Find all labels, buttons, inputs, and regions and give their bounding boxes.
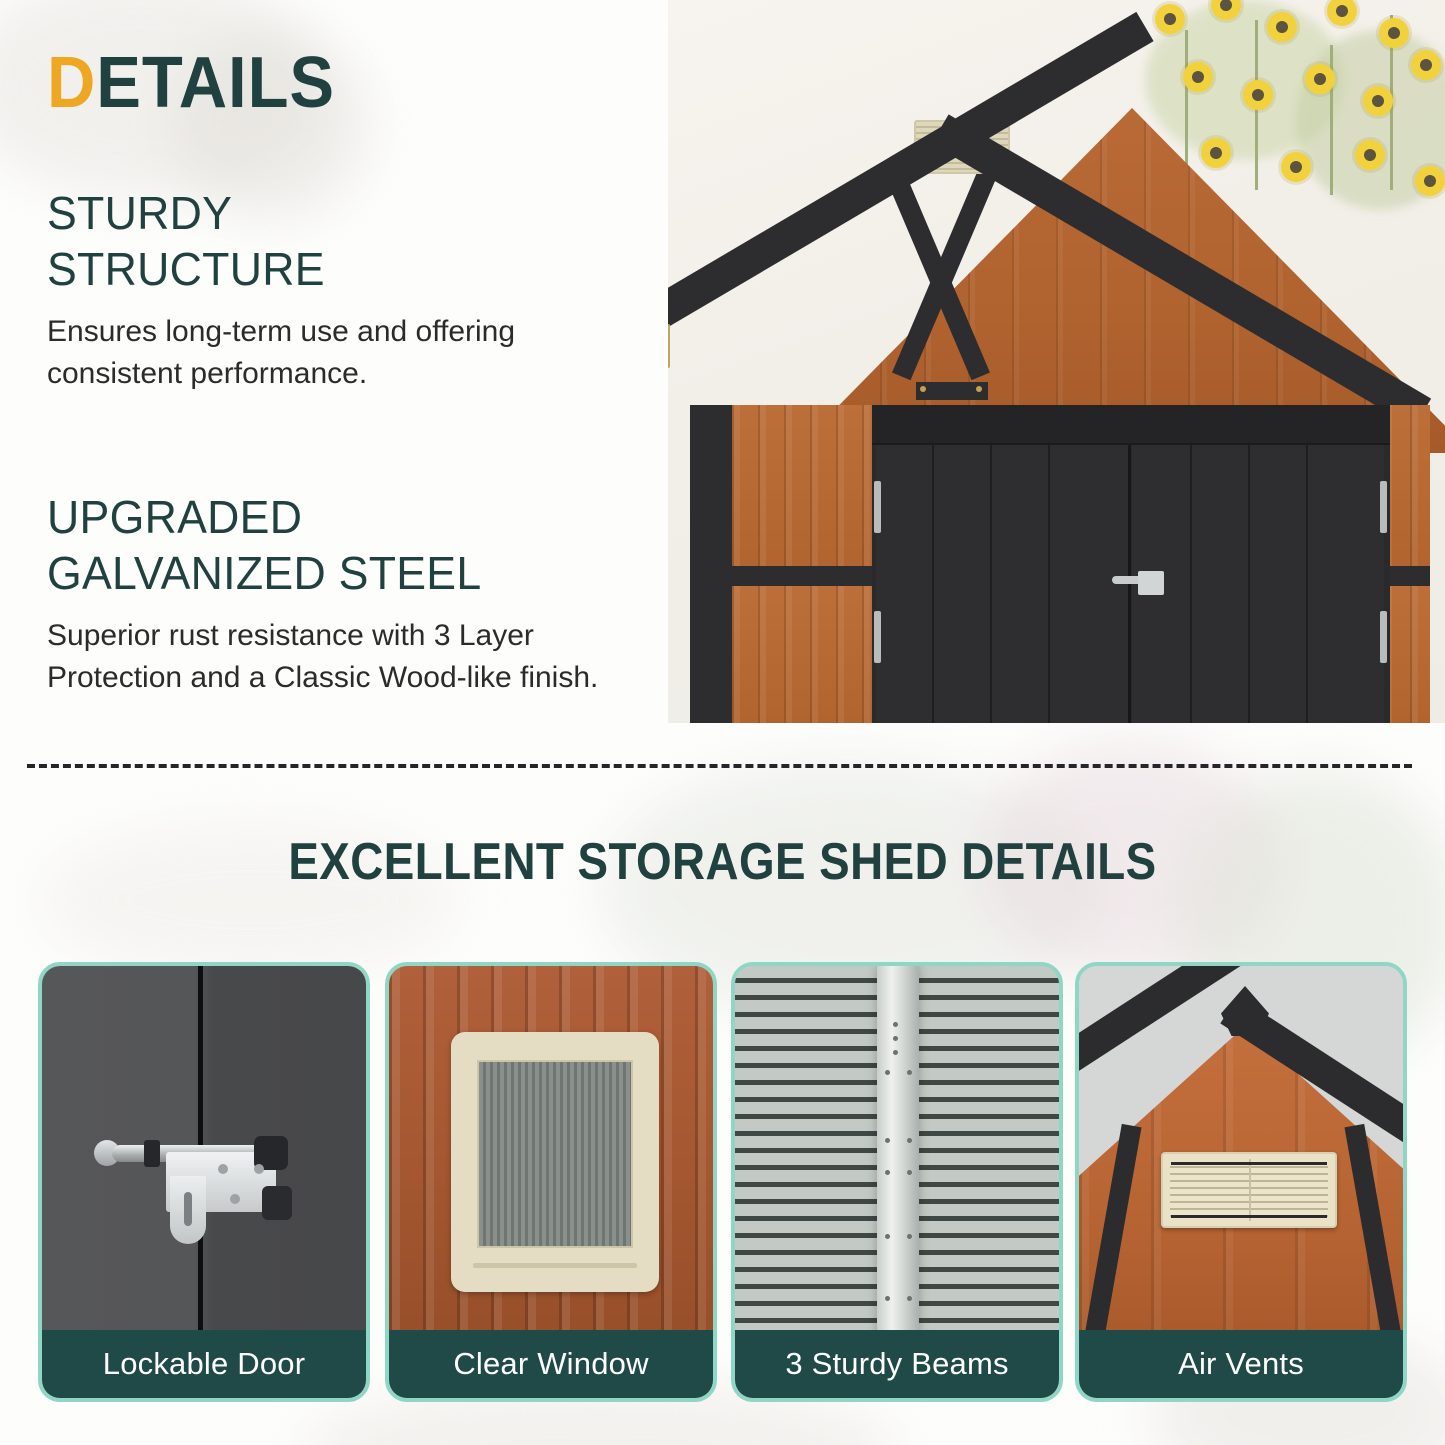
feature-heading: STURDY STRUCTURE — [47, 186, 629, 297]
feature-body-line2: Protection and a Classic Wood-like finis… — [47, 657, 647, 698]
feature-card-grid: Lockable Door Clear Window — [0, 962, 1445, 1402]
door-header-panel — [872, 405, 1390, 445]
feature-body-line1: Superior rust resistance with 3 Layer — [47, 615, 647, 656]
feature-card-clear-window[interactable]: Clear Window — [385, 962, 717, 1402]
flower-icon — [1355, 140, 1385, 170]
rivet-icon — [907, 1138, 912, 1143]
flower-icon — [1155, 4, 1185, 34]
shed-double-doors — [872, 405, 1390, 723]
shed-hero-image — [668, 0, 1445, 723]
feature-body-line1: Ensures long-term use and offering — [47, 311, 647, 352]
bolt-icon — [920, 386, 926, 392]
ribbed-steel-panels — [735, 966, 1059, 1338]
vent-bottom-lip — [1171, 1215, 1327, 1218]
rivet-icon — [893, 1022, 898, 1027]
page-title-accent-letter: D — [47, 43, 96, 123]
flower-icon — [1243, 80, 1273, 110]
roof-peak-cap — [1221, 986, 1269, 1036]
feature-body: Ensures long-term use and offering consi… — [47, 311, 647, 394]
door-rib — [1190, 445, 1192, 723]
window-sill — [473, 1263, 637, 1268]
section-divider — [27, 764, 1412, 768]
door-rib — [1306, 445, 1308, 723]
door-hinge-icon — [1380, 481, 1387, 533]
card-image-sturdy-beams — [735, 966, 1059, 1338]
card-caption: Air Vents — [1079, 1330, 1403, 1398]
door-hinge-icon — [874, 481, 881, 533]
rivet-icon — [907, 1070, 912, 1075]
door-hinge-icon — [874, 611, 881, 663]
bolt-tab — [262, 1186, 292, 1220]
rivet-icon — [893, 1050, 898, 1055]
shed-corner-post-left — [690, 405, 732, 723]
screw-icon — [230, 1194, 240, 1204]
vent-center-divider — [1249, 1159, 1251, 1221]
card-image-clear-window — [389, 966, 713, 1338]
shed-wood-siding — [732, 405, 872, 571]
screw-icon — [254, 1164, 264, 1174]
card-caption: Lockable Door — [42, 1330, 366, 1398]
feature-body: Superior rust resistance with 3 Layer Pr… — [47, 615, 647, 698]
shed-mid-rail — [732, 566, 872, 586]
flower-stem — [1185, 30, 1188, 180]
feature-heading-line2: GALVANIZED STEEL — [47, 546, 629, 602]
feature-heading-line2: STRUCTURE — [47, 242, 629, 298]
rivet-icon — [885, 1138, 890, 1143]
vent-top-lip — [1171, 1162, 1327, 1165]
window-frame — [451, 1032, 659, 1292]
feature-body-line2: consistent performance. — [47, 353, 647, 394]
flower-icon — [1267, 12, 1297, 42]
door-hinge-icon — [1380, 611, 1387, 663]
bolt-icon — [976, 386, 982, 392]
feature-heading: UPGRADED GALVANIZED STEEL — [47, 490, 629, 601]
flower-icon — [1363, 86, 1393, 116]
gable-vent-scene — [1079, 966, 1403, 1338]
rivet-icon — [885, 1170, 890, 1175]
feature-card-sturdy-beams[interactable]: 3 Sturdy Beams — [731, 962, 1063, 1402]
feature-heading-line1: STURDY — [47, 186, 629, 242]
feature-block-galvanized-steel: UPGRADED GALVANIZED STEEL Superior rust … — [47, 490, 647, 698]
door-leaf-left — [876, 445, 1130, 723]
door-rib — [1248, 445, 1250, 723]
flower-icon — [1415, 166, 1445, 196]
flower-icon — [1411, 50, 1441, 80]
latch-plate — [1138, 571, 1164, 595]
rivet-icon — [885, 1070, 890, 1075]
window-glass-panel — [477, 1060, 633, 1248]
rivet-icon — [885, 1296, 890, 1301]
screw-icon — [218, 1164, 228, 1174]
rivet-icon — [885, 1234, 890, 1239]
air-vent-louver-icon — [1161, 1152, 1337, 1228]
flower-icon — [1183, 62, 1213, 92]
rivet-icon — [907, 1234, 912, 1239]
rivet-icon — [907, 1296, 912, 1301]
shed-wood-siding — [732, 586, 872, 723]
door-leaf-right — [1132, 445, 1384, 723]
page-title: DETAILS — [47, 47, 335, 119]
bolt-collar — [144, 1140, 160, 1167]
card-caption: 3 Sturdy Beams — [735, 1330, 1059, 1398]
card-image-lockable-door — [42, 966, 366, 1338]
flower-icon — [1327, 0, 1357, 26]
card-caption: Clear Window — [389, 1330, 713, 1398]
flower-icon — [1201, 138, 1231, 168]
section-heading: EXCELLENT STORAGE SHED DETAILS — [87, 832, 1359, 892]
page-title-rest: ETAILS — [96, 43, 335, 123]
feature-card-lockable-door[interactable]: Lockable Door — [38, 962, 370, 1402]
eave-hook — [668, 324, 670, 368]
door-rib — [1048, 445, 1050, 723]
door-rib — [990, 445, 992, 723]
feature-card-air-vents[interactable]: Air Vents — [1075, 962, 1407, 1402]
slide-bolt-lock-icon — [94, 1134, 309, 1252]
rivet-icon — [907, 1170, 912, 1175]
card-image-air-vents — [1079, 966, 1403, 1338]
detail-page: DETAILS STURDY STRUCTURE Ensures long-te… — [0, 0, 1445, 1445]
padlock-slot — [184, 1192, 192, 1226]
door-rib — [932, 445, 934, 723]
flower-icon — [1305, 64, 1335, 94]
rivet-icon — [893, 1036, 898, 1041]
flower-icon — [1281, 152, 1311, 182]
flower-icon — [1379, 18, 1409, 48]
door-latch-icon — [1112, 569, 1164, 595]
feature-heading-line1: UPGRADED — [47, 490, 629, 546]
feature-block-sturdy-structure: STURDY STRUCTURE Ensures long-term use a… — [47, 186, 647, 394]
vertical-steel-beam — [877, 966, 919, 1338]
